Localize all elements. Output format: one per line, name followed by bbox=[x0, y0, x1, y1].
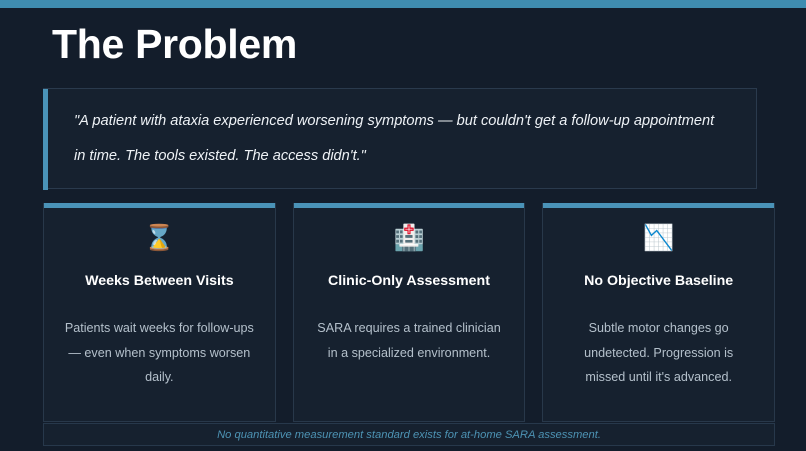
hourglass-icon: ⌛ bbox=[144, 223, 175, 253]
card-body: SARA requires a trained clinician in a s… bbox=[314, 316, 504, 365]
card-title: Clinic-Only Assessment bbox=[328, 272, 490, 290]
chart-decreasing-icon: 📉 bbox=[643, 223, 674, 253]
footer-band: No quantitative measurement standard exi… bbox=[43, 423, 775, 446]
problem-cards-row: ⌛ Weeks Between Visits Patients wait wee… bbox=[43, 203, 775, 422]
card-title: Weeks Between Visits bbox=[85, 272, 234, 290]
hospital-icon: 🏥 bbox=[393, 223, 424, 253]
quote-block: "A patient with ataxia experienced worse… bbox=[43, 88, 757, 189]
footer-text: No quantitative measurement standard exi… bbox=[217, 428, 601, 442]
problem-card-weeks-between-visits: ⌛ Weeks Between Visits Patients wait wee… bbox=[43, 203, 276, 422]
problem-card-clinic-only-assessment: 🏥 Clinic-Only Assessment SARA requires a… bbox=[293, 203, 526, 422]
page-title: The Problem bbox=[52, 19, 297, 69]
card-title: No Objective Baseline bbox=[584, 272, 733, 290]
card-body: Patients wait weeks for follow-ups — eve… bbox=[64, 316, 254, 390]
card-accent-bar bbox=[543, 203, 774, 208]
card-accent-bar bbox=[44, 203, 275, 208]
problem-card-no-objective-baseline: 📉 No Objective Baseline Subtle motor cha… bbox=[542, 203, 775, 422]
quote-text: "A patient with ataxia experienced worse… bbox=[43, 104, 756, 174]
card-accent-bar bbox=[294, 203, 525, 208]
top-accent-bar bbox=[0, 0, 806, 8]
slide-root: The Problem "A patient with ataxia exper… bbox=[0, 0, 806, 451]
quote-accent-bar bbox=[43, 89, 48, 190]
card-body: Subtle motor changes go undetected. Prog… bbox=[564, 316, 754, 390]
